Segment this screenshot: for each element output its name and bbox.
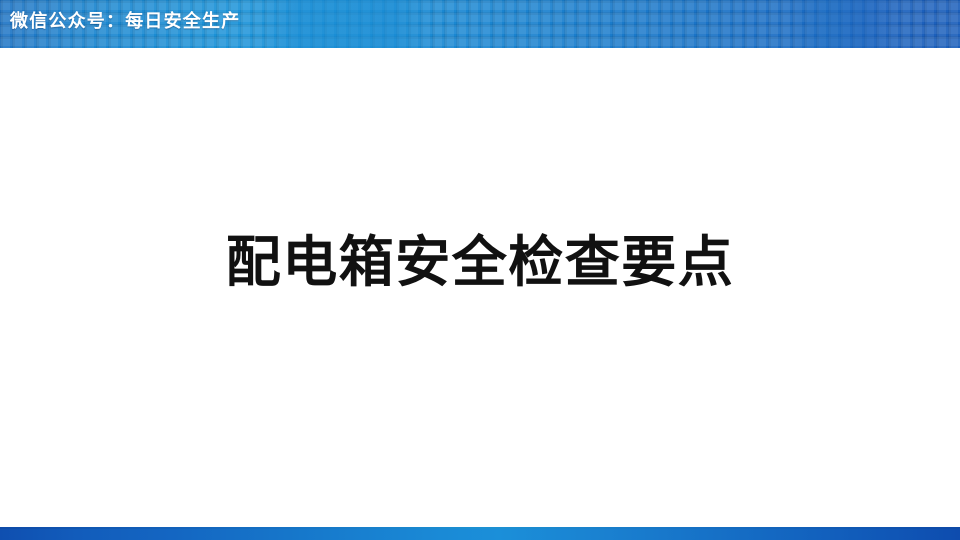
bottom-accent-bar-edge <box>0 527 960 529</box>
slide-canvas: 微信公众号：每日安全生产 配电箱安全检查要点 <box>0 0 960 540</box>
top-banner: 微信公众号：每日安全生产 <box>0 0 960 48</box>
banner-account-label: 微信公众号：每日安全生产 <box>10 9 240 35</box>
slide-main-title: 配电箱安全检查要点 <box>0 224 960 300</box>
